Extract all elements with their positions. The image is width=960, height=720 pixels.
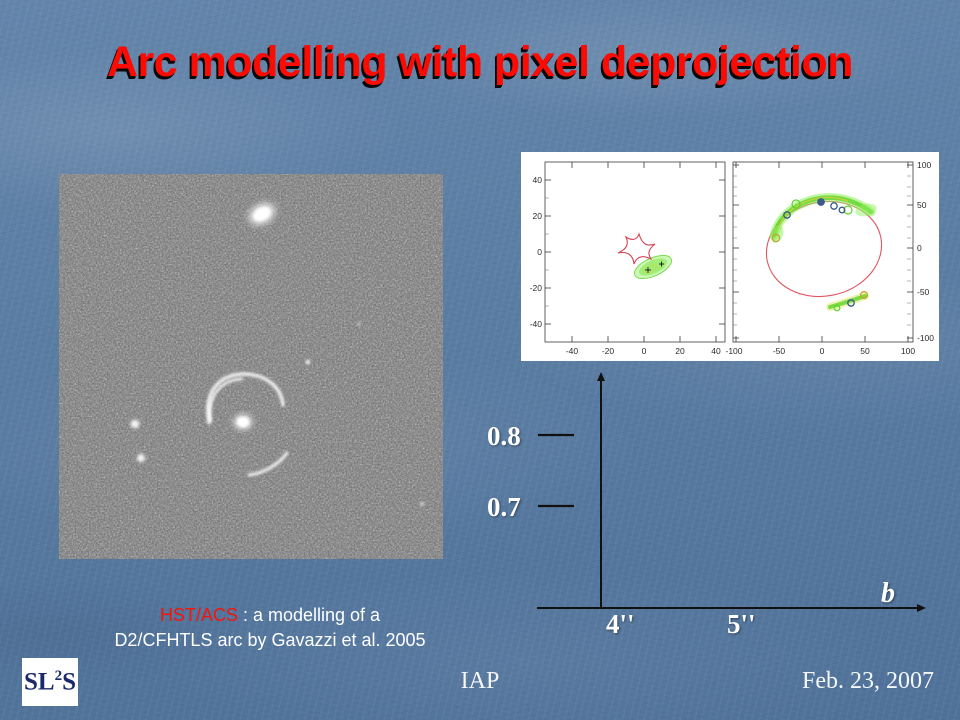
caption-highlight: HST/ACS — [160, 605, 238, 625]
left-xtick-2: 0 — [642, 346, 647, 356]
hst-acs-image — [59, 174, 443, 559]
left-xtick-3: 20 — [675, 346, 685, 356]
point-source-3 — [305, 359, 310, 364]
point-source-4 — [420, 502, 424, 506]
right-xtick-2: 0 — [820, 346, 825, 356]
left-ytick-0: 40 — [533, 175, 543, 185]
point-source-2 — [136, 453, 147, 464]
right-ytick-0: 100 — [917, 160, 931, 170]
left-ytick-3: -20 — [530, 283, 543, 293]
left-ytick-1: 20 — [533, 211, 543, 221]
left-xtick-1: -20 — [602, 346, 615, 356]
right-xtick-1: -50 — [773, 346, 786, 356]
right-xtick-4: 100 — [901, 346, 915, 356]
hst-noise-field — [59, 174, 443, 559]
right-ytick-2: 0 — [917, 243, 922, 253]
caption-rest: : a modelling of a — [238, 605, 380, 625]
left-xtick-0: -40 — [566, 346, 579, 356]
annotation-b-symbol: b — [881, 578, 895, 610]
lens-model-figure: 40 20 0 -20 -40 -40 -20 0 20 40 — [521, 152, 939, 361]
right-ytick-1: 50 — [917, 200, 927, 210]
right-xtick-3: 50 — [860, 346, 870, 356]
left-ytick-2: 0 — [537, 247, 542, 257]
caption-line-2: D2/CFHTLS arc by Gavazzi et al. 2005 — [60, 628, 480, 653]
annotation-q-upper: 0.8 — [487, 421, 521, 452]
annotation-q-lower: 0.7 — [487, 492, 521, 523]
right-ytick-4: -100 — [917, 333, 934, 343]
point-source-5 — [357, 322, 361, 326]
annotation-b-4arcsec: 4'' — [606, 609, 635, 640]
left-xtick-4: 40 — [711, 346, 721, 356]
right-xtick-0: -100 — [725, 346, 742, 356]
page-title: Arc modelling with pixel deprojection — [0, 38, 960, 87]
annotation-b-5arcsec: 5'' — [727, 609, 756, 640]
left-ytick-4: -40 — [530, 319, 543, 329]
hst-image-caption: HST/ACS : a modelling of a D2/CFHTLS arc… — [60, 603, 480, 653]
right-ytick-3: -50 — [917, 287, 930, 297]
point-source-1 — [129, 418, 141, 430]
footer-date: Feb. 23, 2007 — [802, 668, 934, 695]
